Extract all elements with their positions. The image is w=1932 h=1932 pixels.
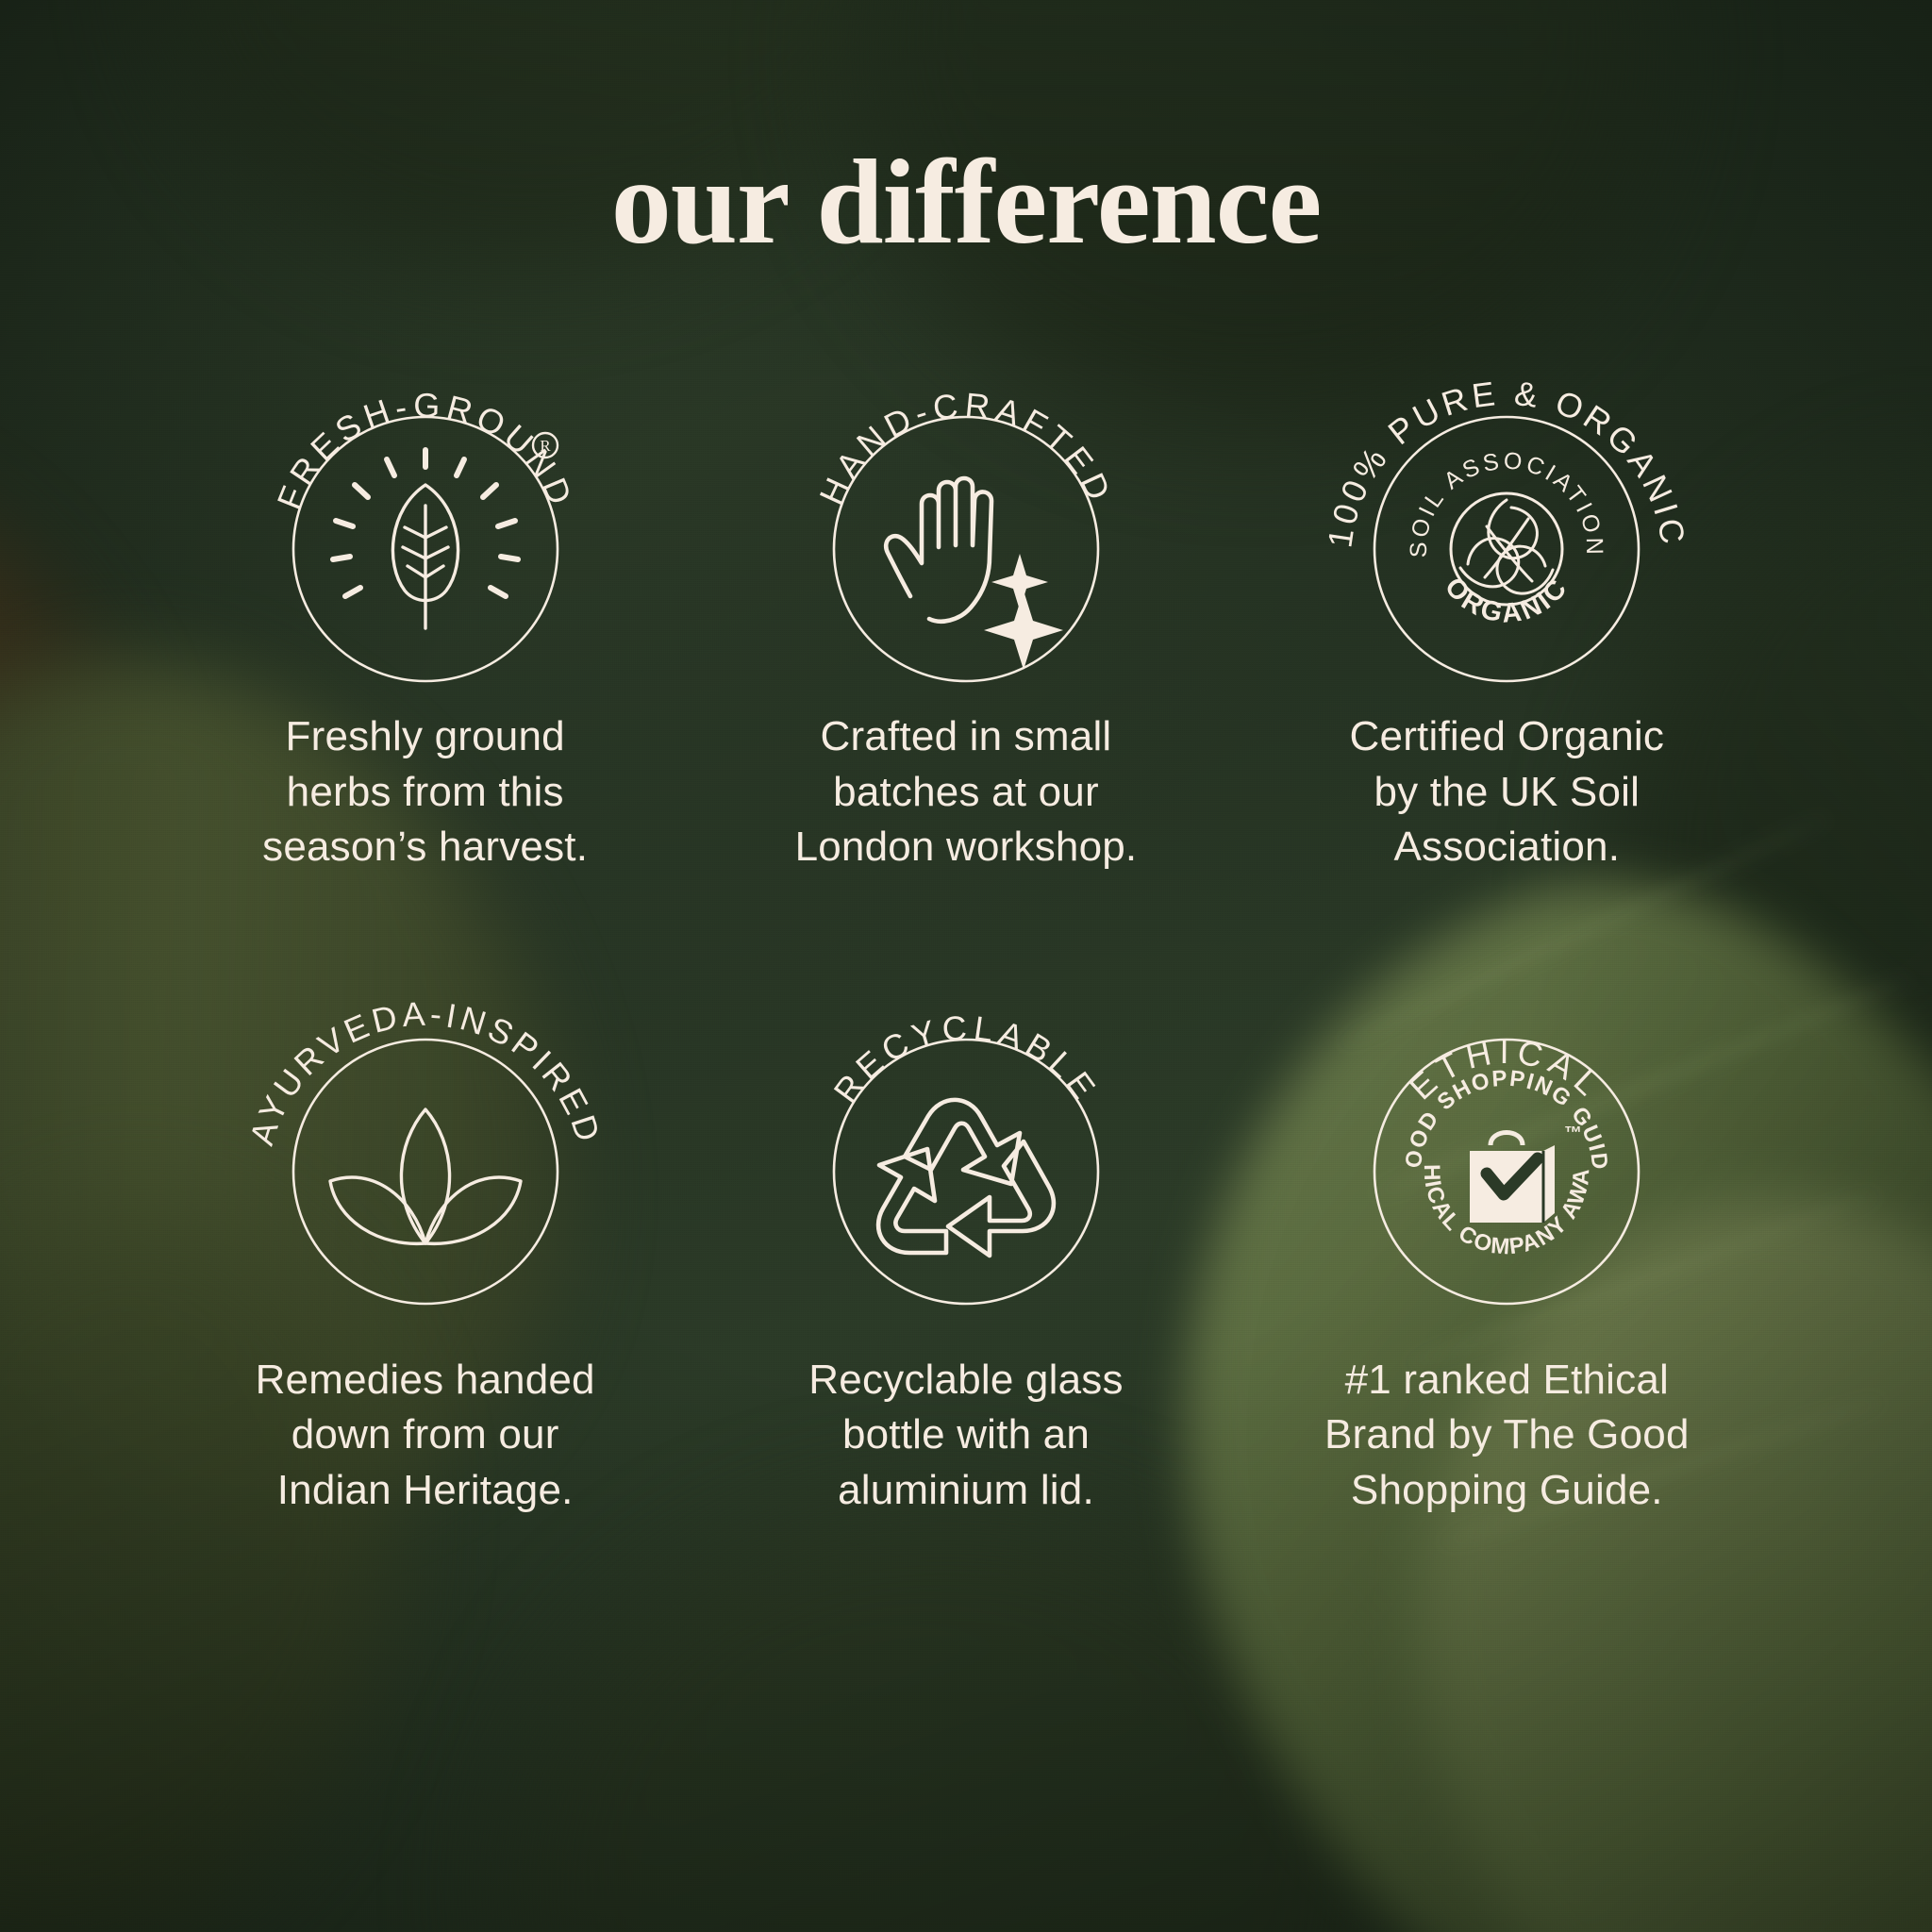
svg-text:R: R <box>540 437 551 455</box>
caption-line: herbs from this <box>237 765 614 821</box>
caption-line: Freshly ground <box>237 709 614 765</box>
caption-line: down from our <box>237 1407 614 1463</box>
caption-line: Crafted in small <box>777 709 1155 765</box>
arc-label-hand-crafted: HAND-CRAFTED <box>811 385 1120 510</box>
trademark-symbol: ™ <box>1564 1124 1582 1143</box>
caption-line: Recyclable glass <box>777 1353 1155 1408</box>
svg-text:RECYCLABLE: RECYCLABLE <box>825 1008 1106 1109</box>
caption-ayurveda-inspired: Remedies handed down from our Indian Her… <box>237 1353 614 1519</box>
caption-hand-crafted: Crafted in small batches at our London w… <box>777 709 1155 875</box>
good-shopping-guide-award-icon: GOOD SHOPPING GUIDE ETHICAL COMPANY AWAR… <box>1275 927 1613 1260</box>
caption-line: batches at our <box>777 765 1155 821</box>
caption-line: Indian Heritage. <box>237 1463 614 1519</box>
svg-text:AYURVEDA-INSPIRED: AYURVEDA-INSPIRED <box>241 993 608 1149</box>
svg-text:HAND-CRAFTED: HAND-CRAFTED <box>811 385 1120 510</box>
feature-fresh-ground: FRESH-GROUND R <box>155 325 695 875</box>
caption-line: aluminium lid. <box>777 1463 1155 1519</box>
feature-ayurveda-inspired: AYURVEDA-INSPIRED Remedies handed down f… <box>155 938 695 1519</box>
caption-pure-organic: Certified Organic by the UK Soil Associa… <box>1318 709 1695 875</box>
caption-line: Association. <box>1318 820 1695 875</box>
features-grid-row-2: AYURVEDA-INSPIRED Remedies handed down f… <box>155 875 1777 1519</box>
page-title: our difference <box>0 0 1932 262</box>
feature-hand-crafted: HAND-CRAFTED Crafted in small batches at… <box>695 325 1236 875</box>
our-difference-section: our difference FRESH-GROUND R <box>0 0 1932 1932</box>
badge-hand-crafted: HAND-CRAFTED <box>744 325 1188 702</box>
caption-line: London workshop. <box>777 820 1155 875</box>
feature-pure-organic: 100% PURE & ORGANIC SOIL ASSOCIATION ORG… <box>1237 325 1777 875</box>
caption-line: Remedies handed <box>237 1353 614 1408</box>
caption-fresh-ground: Freshly ground herbs from this season’s … <box>237 709 614 875</box>
feature-recyclable: RECYCLABLE Recyclable glass bottle with … <box>695 938 1236 1519</box>
arc-label-ayurveda-inspired: AYURVEDA-INSPIRED <box>241 993 608 1149</box>
hand-sparkle-icon <box>886 478 1063 670</box>
caption-line: by the UK Soil <box>1318 765 1695 821</box>
feature-ethical: ETHICAL GOOD SHOPPING GUIDE ETHICAL COMP… <box>1237 938 1777 1519</box>
badge-pure-organic: 100% PURE & ORGANIC SOIL ASSOCIATION ORG… <box>1285 325 1728 702</box>
caption-line: season’s harvest. <box>237 820 614 875</box>
lotus-icon <box>330 1109 521 1243</box>
caption-line: bottle with an <box>777 1407 1155 1463</box>
soil-association-organic-icon: SOIL ASSOCIATION ORGANIC <box>1406 447 1607 628</box>
badge-recyclable: RECYCLABLE <box>744 947 1188 1324</box>
recycle-icon <box>878 1099 1054 1255</box>
caption-line: Shopping Guide. <box>1318 1463 1695 1519</box>
caption-line: Brand by The Good <box>1318 1407 1695 1463</box>
caption-line: Certified Organic <box>1318 709 1695 765</box>
caption-recyclable: Recyclable glass bottle with an aluminiu… <box>777 1353 1155 1519</box>
features-grid-row-1: FRESH-GROUND R <box>155 262 1777 875</box>
caption-ethical: #1 ranked Ethical Brand by The Good Shop… <box>1318 1353 1695 1519</box>
badge-fresh-ground: FRESH-GROUND R <box>204 325 647 702</box>
badge-ayurveda-inspired: AYURVEDA-INSPIRED <box>204 947 647 1324</box>
leaf-rays-icon <box>333 450 518 628</box>
caption-line: #1 ranked Ethical <box>1318 1353 1695 1408</box>
badge-ethical: ETHICAL GOOD SHOPPING GUIDE ETHICAL COMP… <box>1285 947 1728 1324</box>
arc-label-recyclable: RECYCLABLE <box>825 1008 1106 1109</box>
